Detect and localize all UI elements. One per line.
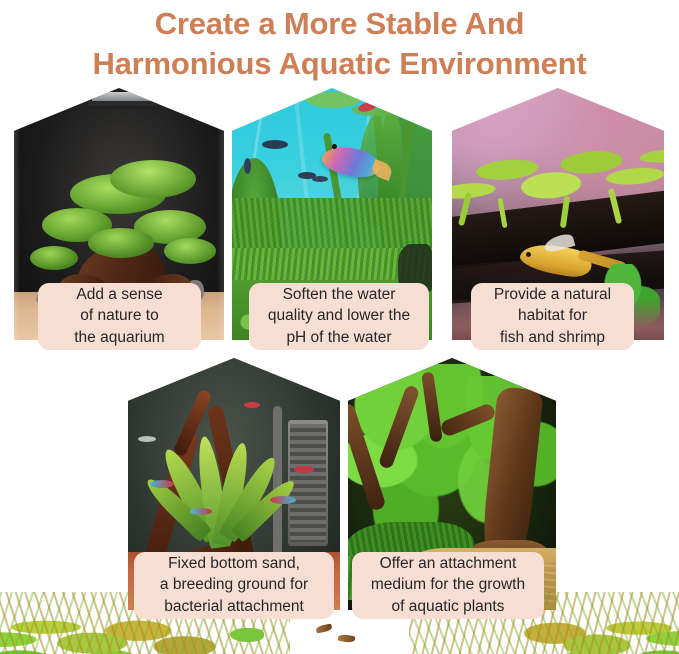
caption-text: Fixed bottom sand, a breeding ground for…	[142, 553, 326, 618]
caption-card-bonsai-aquarium: Add a sense of nature to the aquarium	[38, 283, 201, 350]
poster-root: Create a More Stable And Harmonious Aqua…	[0, 0, 679, 654]
caption-text: Offer an attachment medium for the growt…	[360, 553, 536, 618]
caption-card-red-sand-breeding-tank: Fixed bottom sand, a breeding ground for…	[134, 552, 334, 619]
caption-card-moss-tree-aquascape: Offer an attachment medium for the growt…	[352, 552, 544, 619]
page-title-line-2: Harmonious Aquatic Environment	[0, 44, 679, 84]
page-title-line-1: Create a More Stable And	[0, 4, 679, 44]
caption-card-moss-driftwood-catfish: Provide a natural habitat for fish and s…	[471, 283, 634, 350]
caption-text: Soften the water quality and lower the p…	[257, 284, 421, 349]
caption-card-underwater-planted-tank: Soften the water quality and lower the p…	[249, 283, 429, 350]
aquatic-moss-foliage-band	[0, 582, 679, 654]
caption-text: Add a sense of nature to the aquarium	[46, 284, 193, 349]
caption-text: Provide a natural habitat for fish and s…	[479, 284, 626, 349]
page-title: Create a More Stable And Harmonious Aqua…	[0, 0, 679, 84]
